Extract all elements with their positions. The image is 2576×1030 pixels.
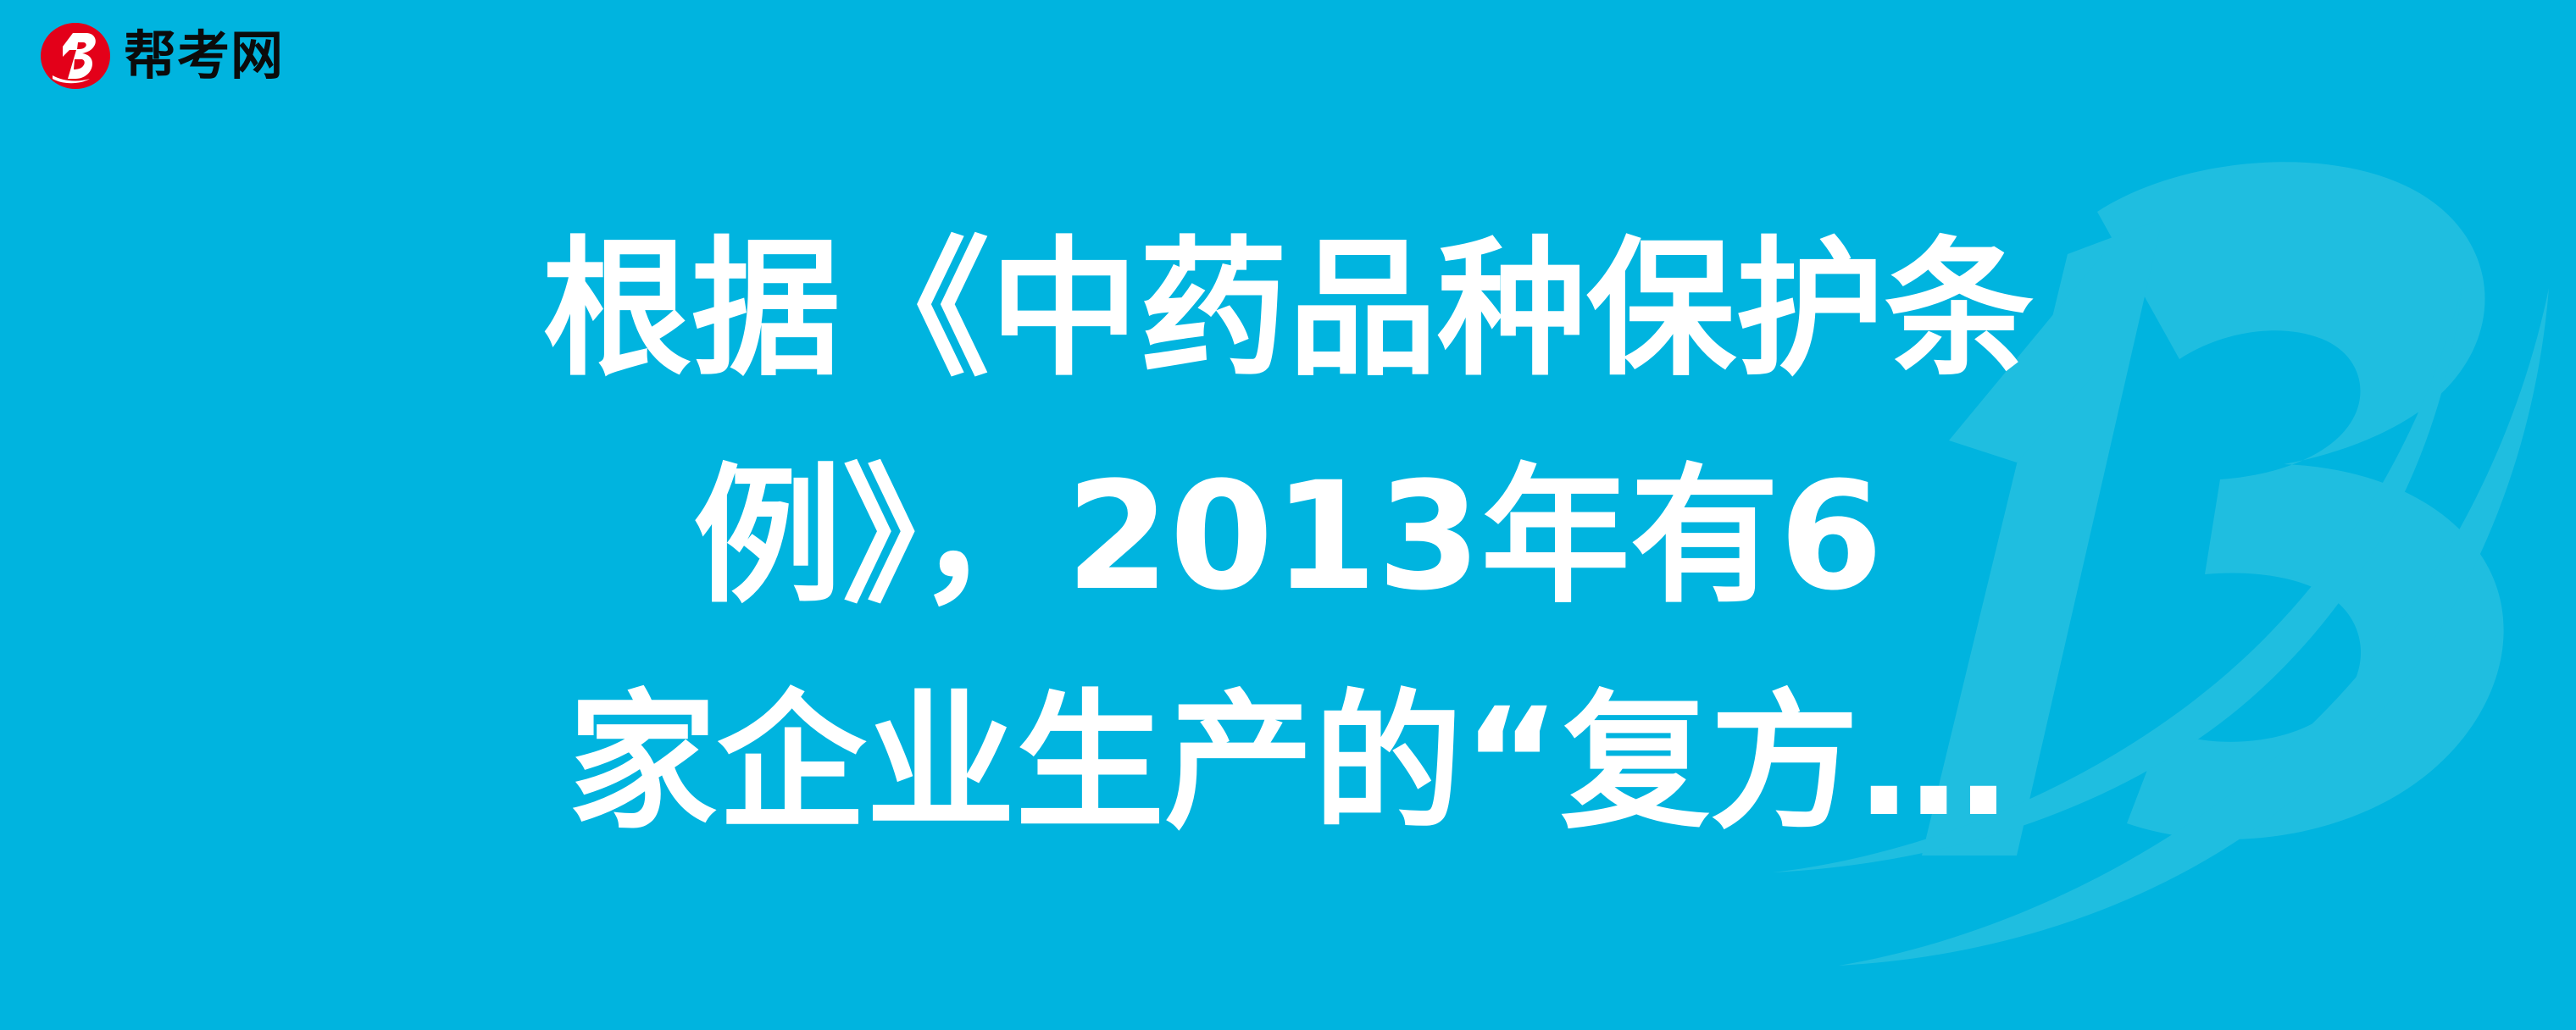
headline-line-3: 家企业生产的“复方…: [153, 650, 2423, 877]
headline-line-1: 根据《中药品种保护条: [153, 197, 2423, 424]
headline-line-2: 例》，2013年有6: [153, 424, 2423, 651]
promo-card: 帮考网 根据《中药品种保护条 例》，2013年有6 家企业生产的“复方…: [0, 0, 2576, 1030]
brand-name: 帮考网: [124, 30, 284, 82]
headline: 根据《中药品种保护条 例》，2013年有6 家企业生产的“复方…: [0, 197, 2576, 877]
brand-logo: 帮考网: [39, 20, 284, 91]
bangkao-b-logo-icon: [39, 19, 112, 92]
